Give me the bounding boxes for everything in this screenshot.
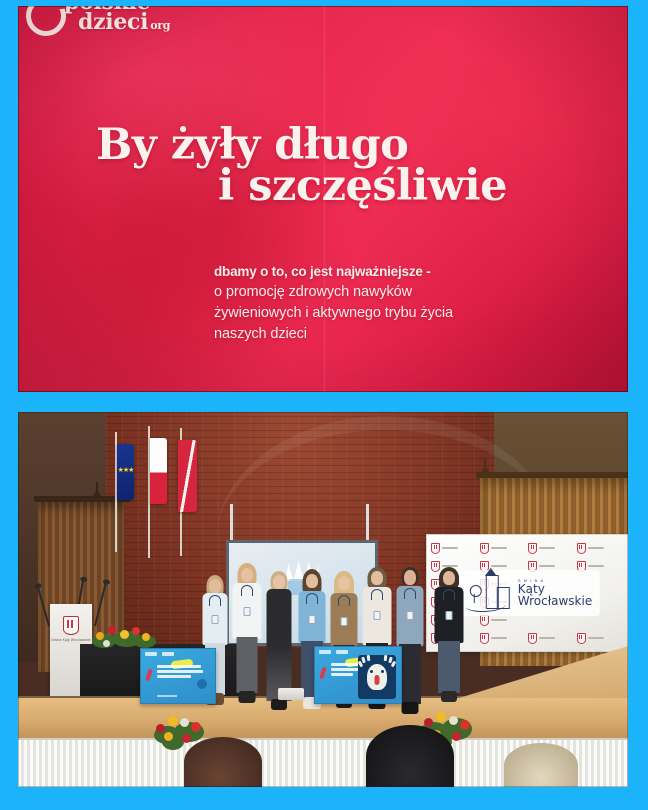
audience-head-3 (504, 743, 578, 787)
stage-person-2 (230, 563, 264, 715)
audience-head-1 (184, 737, 262, 787)
subtitle-line-2: żywieniowych i aktywnego trybu życia (214, 303, 564, 324)
pen-icon (145, 669, 153, 682)
polskie-dzieci-logo: polskie dzieciorg (30, 6, 170, 32)
promo-dot-icon (197, 679, 207, 689)
crest-icon (528, 633, 537, 644)
crest-icon (431, 543, 440, 554)
promo-box-left (140, 648, 216, 704)
stage-photo: ★★★ Gmina Kąty Wrocławskie (18, 412, 628, 787)
crest-icon (577, 633, 586, 644)
logo-suffix: org (150, 19, 170, 32)
crest-icon (528, 543, 537, 554)
promo-text-lines-left (157, 665, 203, 680)
photo-collage: polskie dzieciorg By żyły długo i szczęś… (0, 0, 648, 810)
regional-flag (178, 440, 197, 512)
poland-flag (150, 438, 167, 504)
screen-support-right (366, 504, 369, 544)
crest-icon (480, 615, 489, 626)
headline-line-2: i szczęśliwie (18, 165, 628, 209)
mascot-hedgehog-icon (358, 655, 396, 699)
town-skyline-icon (464, 573, 510, 613)
gmina-logo-block: G M I N A Kąty Wrocławskie (456, 570, 600, 616)
crest-icon (480, 633, 489, 644)
projector-device (278, 688, 304, 700)
subtitle-line-0: dbamy o to, co jest najważniejsze - (214, 262, 564, 282)
crest-icon (577, 543, 586, 554)
lectern-caption: Gmina Kąty Wrocławskie (51, 638, 91, 642)
stage-person-8 (432, 567, 466, 715)
town-crest-icon (63, 616, 79, 635)
banner-headline: By żyły długo i szczęśliwie (18, 124, 628, 209)
crest-icon (480, 543, 489, 554)
promo-box-right (314, 646, 402, 704)
pen-icon (319, 667, 327, 680)
screen-support-left (230, 504, 233, 544)
logo-line-2: dzieci (78, 9, 148, 35)
banner-photo: polskie dzieciorg By żyły długo i szczęś… (18, 6, 628, 392)
banner-subtitle: dbamy o to, co jest najważniejsze - o pr… (214, 262, 564, 345)
eu-stars-icon: ★★★ (118, 466, 134, 474)
town-name-line-2: Wrocławskie (518, 595, 592, 607)
subtitle-line-1: o promocję zdrowych nawyków (214, 282, 564, 303)
audience-head-2 (366, 725, 454, 787)
subtitle-line-3: naszych dzieci (214, 324, 564, 345)
european-union-flag: ★★★ (117, 444, 134, 500)
